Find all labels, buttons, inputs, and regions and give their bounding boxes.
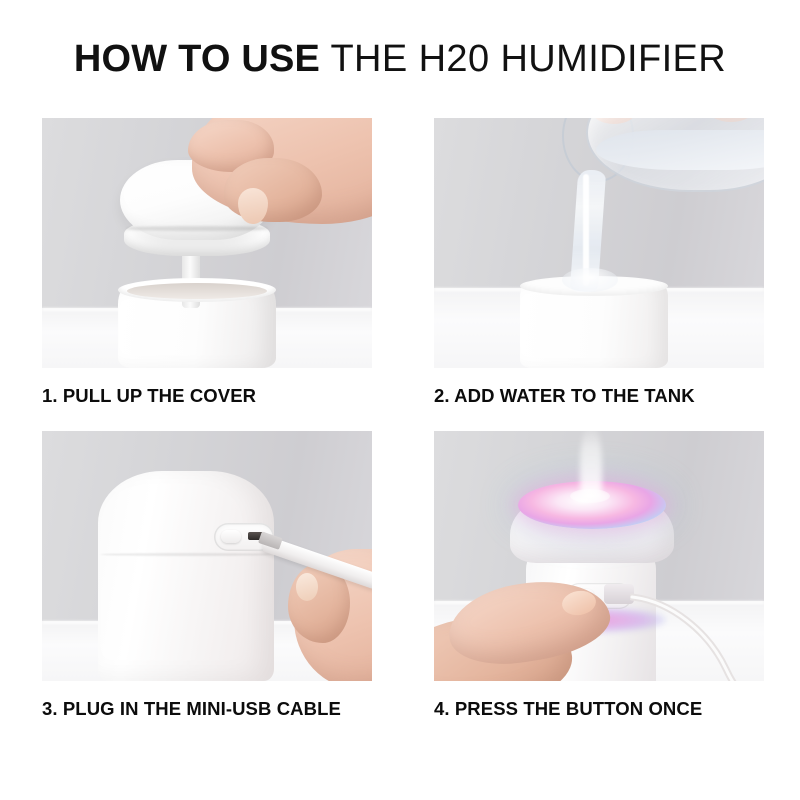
step-3-caption: 3. PLUG IN THE MINI-USB CABLE [42,698,372,720]
humidifier-tank-opening [127,283,267,299]
led-core-highlight [570,489,610,503]
power-cord [630,591,764,681]
step-4-caption: 4. PRESS THE BUTTON ONCE [434,698,764,720]
humidifier-body-seam [100,553,272,556]
step-1-caption: 1. PULL UP THE COVER [42,385,372,407]
step-4-photo [434,431,764,681]
step-4: 4. PRESS THE BUTTON ONCE [434,431,764,720]
steps-grid: 1. PULL UP THE COVER 2. ADD WATER TO [42,118,764,720]
how-to-use-infographic: HOW TO USE THE H20 HUMIDIFIER [0,0,800,800]
humidifier-cover-seam [126,226,268,231]
mist-plume [580,431,602,495]
pitcher-water [596,130,764,170]
step-2: 2. ADD WATER TO THE TANK [434,118,764,407]
step-1: 1. PULL UP THE COVER [42,118,372,407]
step-2-caption: 2. ADD WATER TO THE TANK [434,385,764,407]
step-3: 3. PLUG IN THE MINI-USB CABLE [42,431,372,720]
humidifier-assembled-body [98,471,274,681]
step-3-photo [42,431,372,681]
step-1-photo [42,118,372,368]
power-button[interactable] [221,530,241,543]
water-splash [562,268,618,292]
page-title-light: THE H20 HUMIDIFIER [330,38,726,80]
thumbnail-icon [296,573,318,601]
page-title: HOW TO USE THE H20 HUMIDIFIER [0,38,800,80]
step-2-photo [434,118,764,368]
page-title-bold: HOW TO USE [74,38,320,80]
